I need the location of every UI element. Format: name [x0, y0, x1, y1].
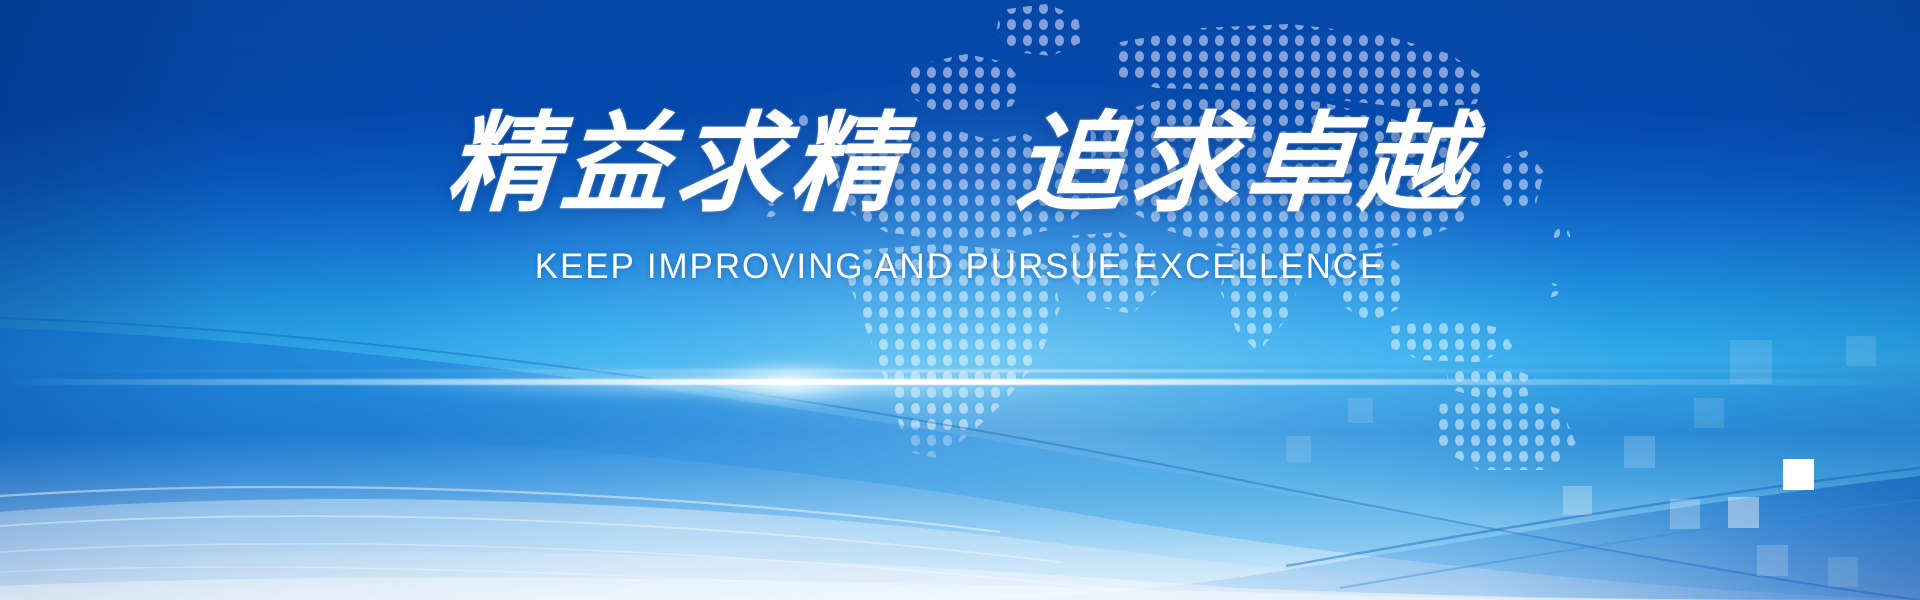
- headline-chinese-right: 追求卓越: [1011, 106, 1477, 225]
- headline-chinese-left: 精益求精: [442, 106, 908, 225]
- headline-chinese: 精益求精 追求卓越: [443, 108, 1478, 225]
- banner-content: 精益求精 追求卓越 KEEP IMPROVING AND PURSUE EXCE…: [0, 0, 1920, 600]
- hero-banner: 精益求精 追求卓越 KEEP IMPROVING AND PURSUE EXCE…: [0, 0, 1920, 600]
- subtitle-english: KEEP IMPROVING AND PURSUE EXCELLENCE: [535, 247, 1386, 287]
